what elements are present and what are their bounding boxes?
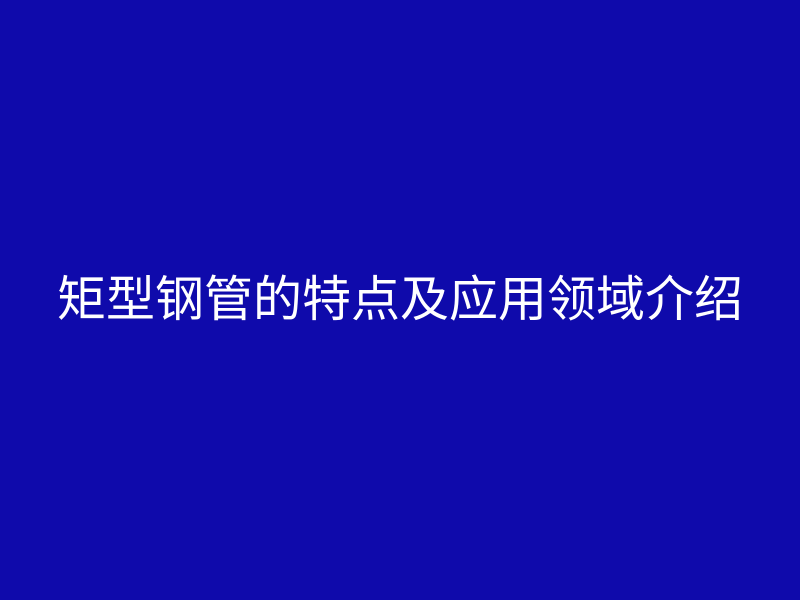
title-block: 矩型钢管的特点及应用领域介绍 (0, 275, 800, 325)
slide-canvas: 矩型钢管的特点及应用领域介绍 (0, 0, 800, 600)
page-title: 矩型钢管的特点及应用领域介绍 (0, 275, 800, 325)
